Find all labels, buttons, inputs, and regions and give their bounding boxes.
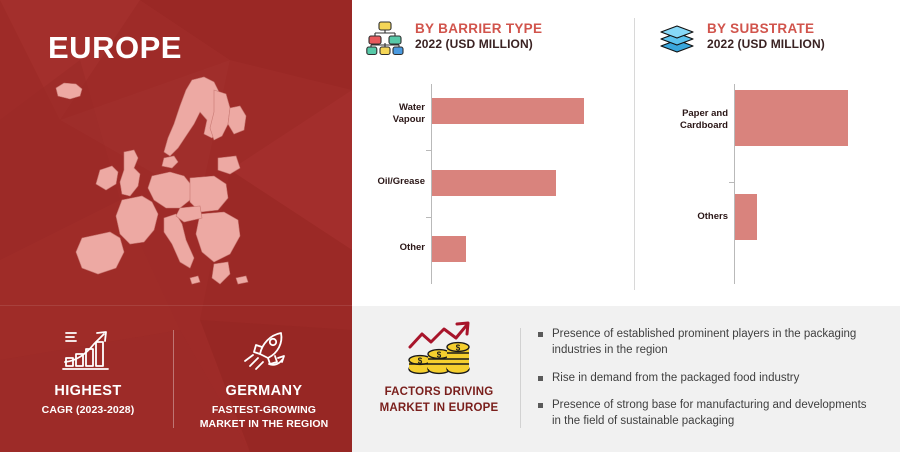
bar-others bbox=[735, 194, 757, 240]
chart-header: BY BARRIER TYPE 2022 (USD MILLION) bbox=[366, 18, 542, 56]
list-item: Rise in demand from the packaged food in… bbox=[538, 370, 878, 386]
chart-subtitle: 2022 (USD MILLION) bbox=[707, 38, 825, 52]
stat-germany-fastest: GERMANY FASTEST-GROWING MARKET IN THE RE… bbox=[176, 306, 352, 431]
bar-paper-and-cardboard bbox=[735, 90, 848, 146]
list-item: Presence of strong base for manufacturin… bbox=[538, 397, 878, 430]
bar-label: Other bbox=[366, 242, 425, 254]
layers-icon bbox=[658, 18, 696, 56]
hierarchy-icon bbox=[366, 18, 404, 56]
axis-tick bbox=[426, 217, 431, 218]
chart-barrier-type: BY BARRIER TYPE 2022 (USD MILLION) Water… bbox=[352, 0, 634, 306]
infographic-root: EUROPE bbox=[0, 0, 900, 452]
svg-text:$: $ bbox=[456, 344, 461, 353]
list-item: Presence of established prominent player… bbox=[538, 326, 878, 359]
bar-label: Oil/Grease bbox=[366, 176, 425, 188]
svg-text:$: $ bbox=[418, 357, 423, 366]
stats-row: HIGHEST CAGR (2023-2028) bbox=[0, 306, 352, 452]
stat-subtitle: FASTEST-GROWING MARKET IN THE REGION bbox=[200, 403, 329, 431]
rocket-icon bbox=[236, 328, 292, 376]
bullet-text: Rise in demand from the packaged food in… bbox=[552, 370, 799, 386]
factors-title-line1: FACTORS DRIVING bbox=[372, 385, 506, 401]
growth-bar-chart-icon bbox=[60, 328, 116, 376]
bar-water-vapour bbox=[432, 98, 584, 124]
bullet-text: Presence of established prominent player… bbox=[552, 326, 878, 359]
axis-tick bbox=[729, 182, 734, 183]
svg-text:$: $ bbox=[437, 351, 442, 360]
bullet-square-icon bbox=[538, 403, 543, 408]
europe-map bbox=[24, 72, 328, 302]
stat-highest-cagr: HIGHEST CAGR (2023-2028) bbox=[0, 306, 176, 417]
bar-oil-grease bbox=[432, 170, 556, 196]
stat-subtitle: CAGR (2023-2028) bbox=[42, 403, 135, 417]
region-title: EUROPE bbox=[48, 32, 182, 63]
stat-title: HIGHEST bbox=[54, 383, 121, 400]
chart-title: BY SUBSTRATE bbox=[707, 21, 825, 37]
chart-substrate: BY SUBSTRATE 2022 (USD MILLION) Paper an… bbox=[634, 0, 900, 306]
axis-tick bbox=[426, 150, 431, 151]
barrier-type-plot: Water Vapour Oil/Grease Other bbox=[366, 84, 624, 284]
bar-label: Water Vapour bbox=[366, 102, 425, 126]
bullets-divider bbox=[520, 328, 521, 428]
chart-header-text: BY SUBSTRATE 2022 (USD MILLION) bbox=[707, 18, 825, 51]
chart-subtitle: 2022 (USD MILLION) bbox=[415, 38, 542, 52]
bar-label: Others bbox=[658, 211, 728, 223]
bullet-square-icon bbox=[538, 376, 543, 381]
substrate-plot: Paper and Cardboard Others bbox=[658, 84, 890, 284]
bar-other bbox=[432, 236, 466, 262]
factors-bullet-list: Presence of established prominent player… bbox=[538, 326, 878, 441]
money-growth-icon: $ $ bbox=[400, 320, 478, 380]
factors-panel: $ $ bbox=[352, 306, 900, 452]
bullet-square-icon bbox=[538, 332, 543, 337]
factors-title-line2: MARKET IN EUROPE bbox=[372, 401, 506, 417]
chart-header-text: BY BARRIER TYPE 2022 (USD MILLION) bbox=[415, 18, 542, 51]
chart-title: BY BARRIER TYPE bbox=[415, 21, 542, 37]
chart-header: BY SUBSTRATE 2022 (USD MILLION) bbox=[658, 18, 825, 56]
region-panel: EUROPE bbox=[0, 0, 352, 452]
bullet-text: Presence of strong base for manufacturin… bbox=[552, 397, 878, 430]
stat-title: GERMANY bbox=[226, 383, 303, 400]
charts-area: BY BARRIER TYPE 2022 (USD MILLION) Water… bbox=[352, 0, 900, 306]
bar-label: Paper and Cardboard bbox=[658, 108, 728, 132]
factors-block: $ $ bbox=[372, 320, 506, 416]
